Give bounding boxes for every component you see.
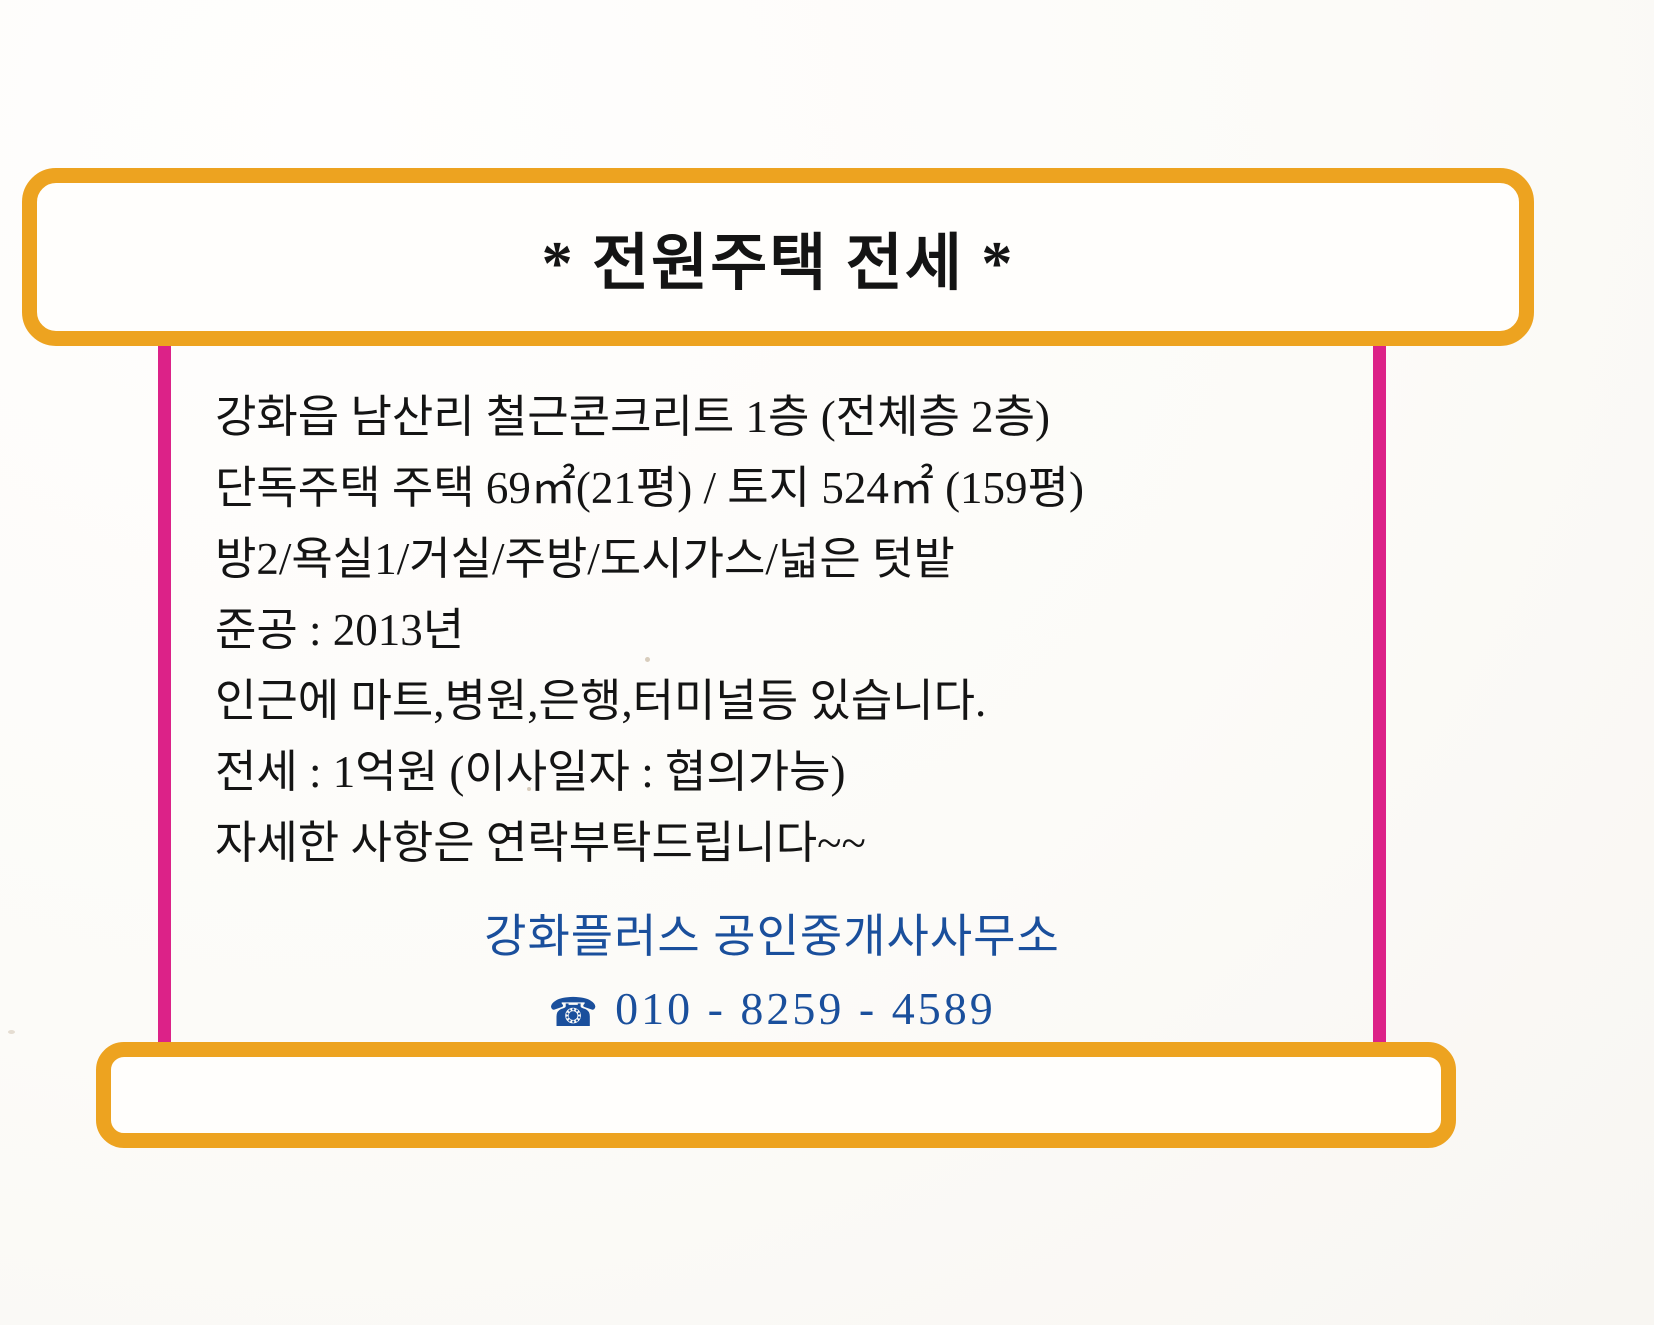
orange-footer-bar: [96, 1042, 1456, 1148]
listing-detail-line: 인근에 마트,병원,은행,터미널등 있습니다.: [215, 679, 1375, 724]
agency-phone-line: ☎010 - 8259 - 4589: [158, 982, 1386, 1036]
agency-phone-number: 010 - 8259 - 4589: [615, 983, 996, 1034]
scan-speck: [645, 657, 650, 662]
listing-detail-line: 전세 : 1억원 (이사일자 : 협의가능): [215, 750, 1375, 795]
listing-detail-line: 강화읍 남산리 철근콘크리트 1층 (전체층 2층): [215, 395, 1375, 440]
page-title: * 전원주택 전세 *: [22, 168, 1534, 346]
agency-contact-block: 강화플러스 공인중개사사무소 ☎010 - 8259 - 4589: [158, 900, 1386, 1036]
listing-detail-line: 방2/욕실1/거실/주방/도시가스/넓은 텃밭: [215, 537, 1375, 582]
scan-speck: [527, 787, 531, 791]
agency-name: 강화플러스 공인중개사사무소: [158, 900, 1386, 966]
listing-detail-line: 자세한 사항은 연락부탁드립니다~~: [215, 821, 1375, 866]
scan-speck: [8, 1030, 15, 1034]
listing-detail-line: 준공 : 2013년: [215, 608, 1375, 653]
listing-detail-line: 단독주택 주택 69㎡(21평) / 토지 524㎡ (159평): [215, 466, 1375, 511]
property-listing-flyer: * 전원주택 전세 * 강화읍 남산리 철근콘크리트 1층 (전체층 2층) 단…: [0, 0, 1654, 1325]
telephone-icon: ☎: [548, 990, 601, 1035]
listing-details-list: 강화읍 남산리 철근콘크리트 1층 (전체층 2층) 단독주택 주택 69㎡(2…: [215, 395, 1375, 892]
